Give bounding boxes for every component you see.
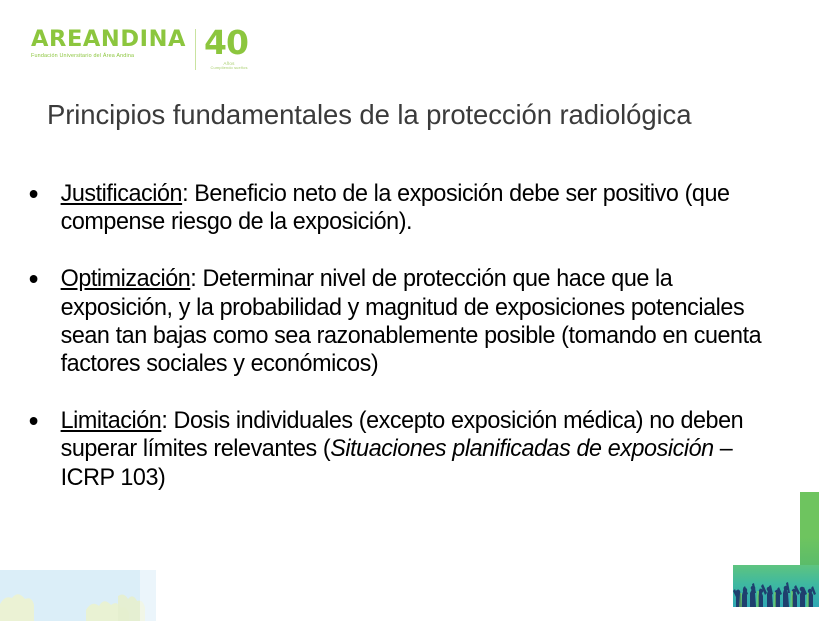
bullet-dot-icon: [30, 275, 38, 283]
logo-divider: [195, 29, 196, 70]
anniversary-caption-line2: Cumpliendo sueños: [210, 66, 248, 71]
anniversary-caption: Años Cumpliendo sueños: [210, 61, 248, 71]
bullet-separator: :: [190, 265, 202, 292]
list-item: Limitación: Dosis individuales (excepto …: [22, 407, 784, 492]
bullet-term: Optimización: [61, 265, 191, 292]
logo-wordmark-text: AREANDINA: [31, 28, 186, 51]
bullet-separator: :: [161, 407, 173, 434]
slide-title: Principios fundamentales de la protecció…: [47, 98, 727, 133]
list-item: Optimización: Determinar nivel de protec…: [22, 265, 784, 378]
green-accent-bar: [800, 492, 819, 568]
logo-wordmark-group: AREANDINA Fundación Universitario del Ár…: [31, 28, 195, 59]
bullet-dot-icon: [30, 190, 38, 198]
bullet-list: Justificación: Beneficio neto de la expo…: [22, 180, 812, 492]
slide-canvas: AREANDINA Fundación Universitario del Ár…: [0, 0, 828, 621]
list-item: Justificación: Beneficio neto de la expo…: [22, 180, 784, 236]
bullet-term: Limitación: [61, 407, 162, 434]
bullet-text-italic: Situaciones planificadas de exposición: [330, 435, 713, 462]
areandina-logo: AREANDINA Fundación Universitario del Ár…: [31, 28, 251, 74]
bullet-dot-icon: [30, 417, 38, 425]
crowd-silhouette-image: [733, 565, 819, 607]
anniversary-number: 40: [204, 26, 248, 59]
anniversary-mark: 40 Años Cumpliendo sueños: [204, 28, 251, 74]
bullet-separator: :: [182, 180, 194, 207]
landscape-photo: [0, 570, 156, 621]
logo-tagline-text: Fundación Universitario del Área Andina: [31, 54, 186, 59]
bullet-term: Justificación: [61, 180, 182, 207]
